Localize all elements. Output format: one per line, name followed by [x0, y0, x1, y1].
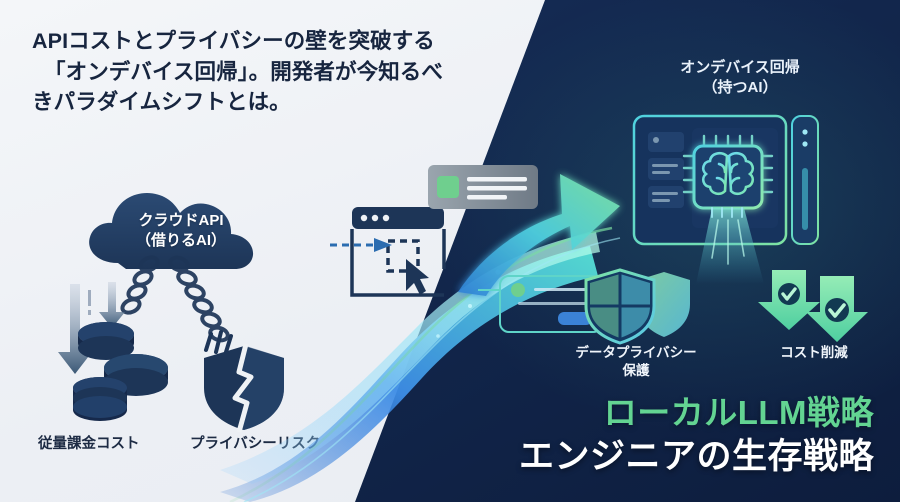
title-engineer-survival-strategy: エンジニアの生存戦略	[519, 428, 874, 479]
caption-cost-line1: コスト削減	[780, 345, 848, 360]
caption-pay-as-you-go-cost: 従量課金コスト	[38, 432, 140, 453]
double-shield-icon	[576, 268, 696, 344]
on-device-heading-line1: オンデバイス回帰	[680, 59, 800, 76]
caption-privacy-line1: データプライバシー	[575, 345, 696, 360]
headline-line-3: きパラダイムシフトとは。	[32, 87, 532, 118]
tablet-device-icon	[626, 108, 826, 288]
caption-data-privacy-protection: データプライバシー 保護	[556, 344, 716, 379]
page-headline: APIコストとプライバシーの壁を突破する 「オンデバイス回帰」。開発者が今知るべ…	[32, 26, 532, 118]
poster-canvas: APIコストとプライバシーの壁を突破する 「オンデバイス回帰」。開発者が今知るべ…	[0, 0, 900, 502]
headline-line-2: 「オンデバイス回帰」。開発者が今知るべ	[32, 57, 532, 88]
coins-stack-icon	[70, 310, 200, 420]
caption-cost-reduction: コスト削減	[752, 344, 876, 362]
on-device-heading-line2: （持つAI）	[702, 79, 777, 96]
cloud-api-label: クラウドAPI （借りるAI）	[88, 211, 274, 252]
headline-line-1: APIコストとプライバシーの壁を突破する	[32, 26, 532, 57]
caption-privacy-line2: 保護	[623, 363, 650, 378]
cloud-api-label-line1: クラウドAPI	[138, 212, 223, 229]
cloud-api-label-line2: （借りるAI）	[136, 232, 226, 249]
down-arrow-check-icon	[756, 266, 872, 344]
title-local-llm-strategy: ローカルLLM戦略	[604, 386, 874, 434]
on-device-heading: オンデバイス回帰 （持つAI）	[600, 58, 880, 99]
